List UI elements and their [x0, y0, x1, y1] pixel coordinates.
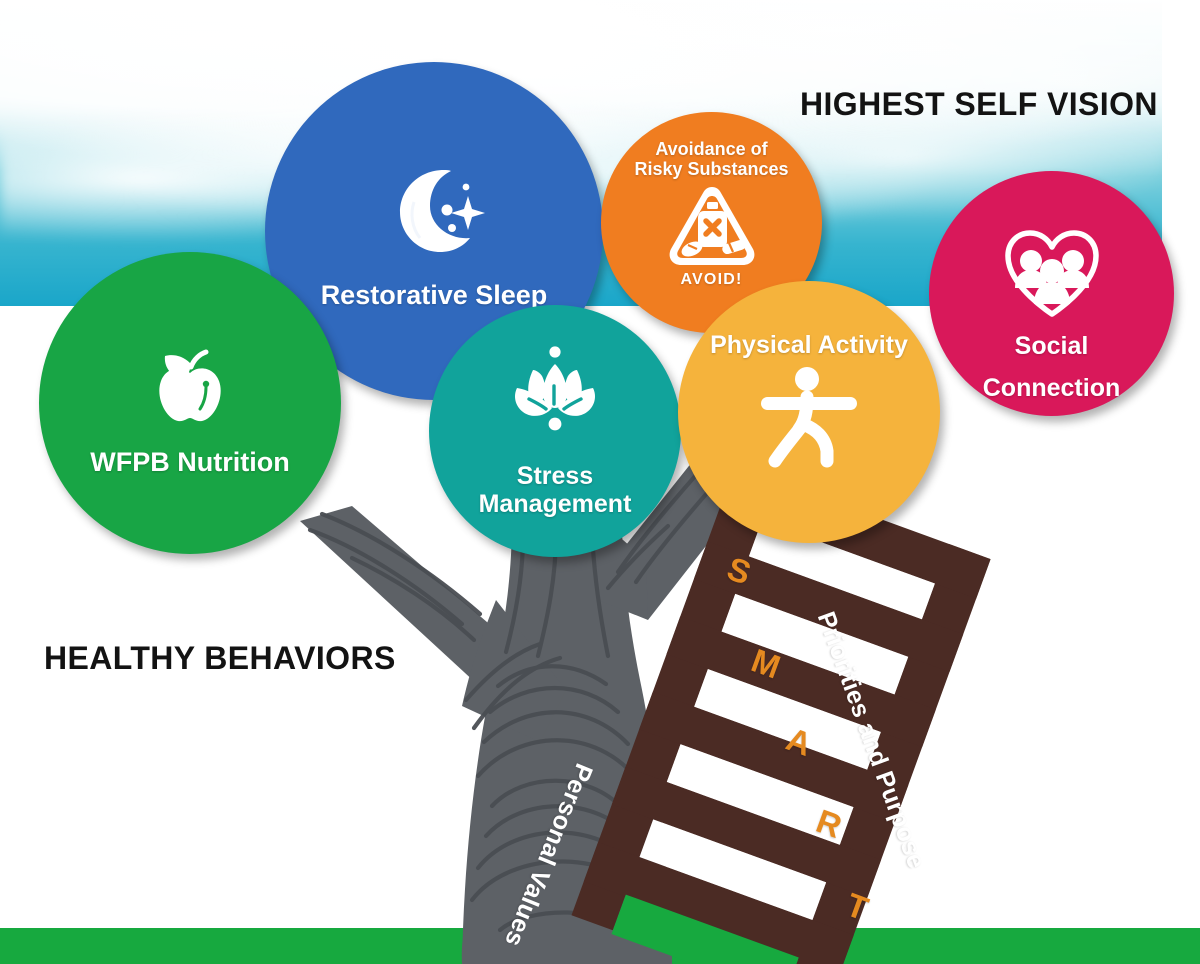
pillar-label-line1: Stress — [507, 462, 603, 490]
pillar-social-connection[interactable]: Social Connection — [929, 171, 1174, 416]
yoga-figure-icon — [749, 365, 869, 469]
pillar-label: Physical Activity — [700, 331, 918, 359]
heading-highest-self-vision: HIGHEST SELF VISION — [800, 86, 1158, 123]
pillar-label-line1: Social — [1005, 332, 1099, 360]
pillar-label-line2: Management — [469, 490, 642, 518]
pillar-label: Restorative Sleep — [311, 280, 558, 310]
pillar-physical-activity[interactable]: Physical Activity — [678, 281, 940, 543]
infographic-canvas: S M A R T Personal Values Priorities and… — [0, 0, 1200, 964]
heart-family-icon — [1000, 226, 1104, 318]
pillar-wfpb-nutrition[interactable]: WFPB Nutrition — [39, 252, 341, 554]
pillar-label-line1: Avoidance of — [645, 139, 777, 159]
warning-bottle-pills-icon — [666, 183, 758, 269]
apple-icon — [138, 329, 242, 433]
moon-stars-icon — [378, 152, 490, 264]
pillar-stress-management[interactable]: Stress Management — [429, 305, 681, 557]
pillar-label-line2: Connection — [973, 374, 1131, 402]
pillar-label-line2: Risky Substances — [624, 159, 798, 179]
pillar-label: WFPB Nutrition — [80, 447, 299, 477]
heading-healthy-behaviors: HEALTHY BEHAVIORS — [44, 640, 396, 677]
avoid-badge: AVOID! — [680, 271, 742, 289]
lotus-icon — [499, 344, 611, 444]
